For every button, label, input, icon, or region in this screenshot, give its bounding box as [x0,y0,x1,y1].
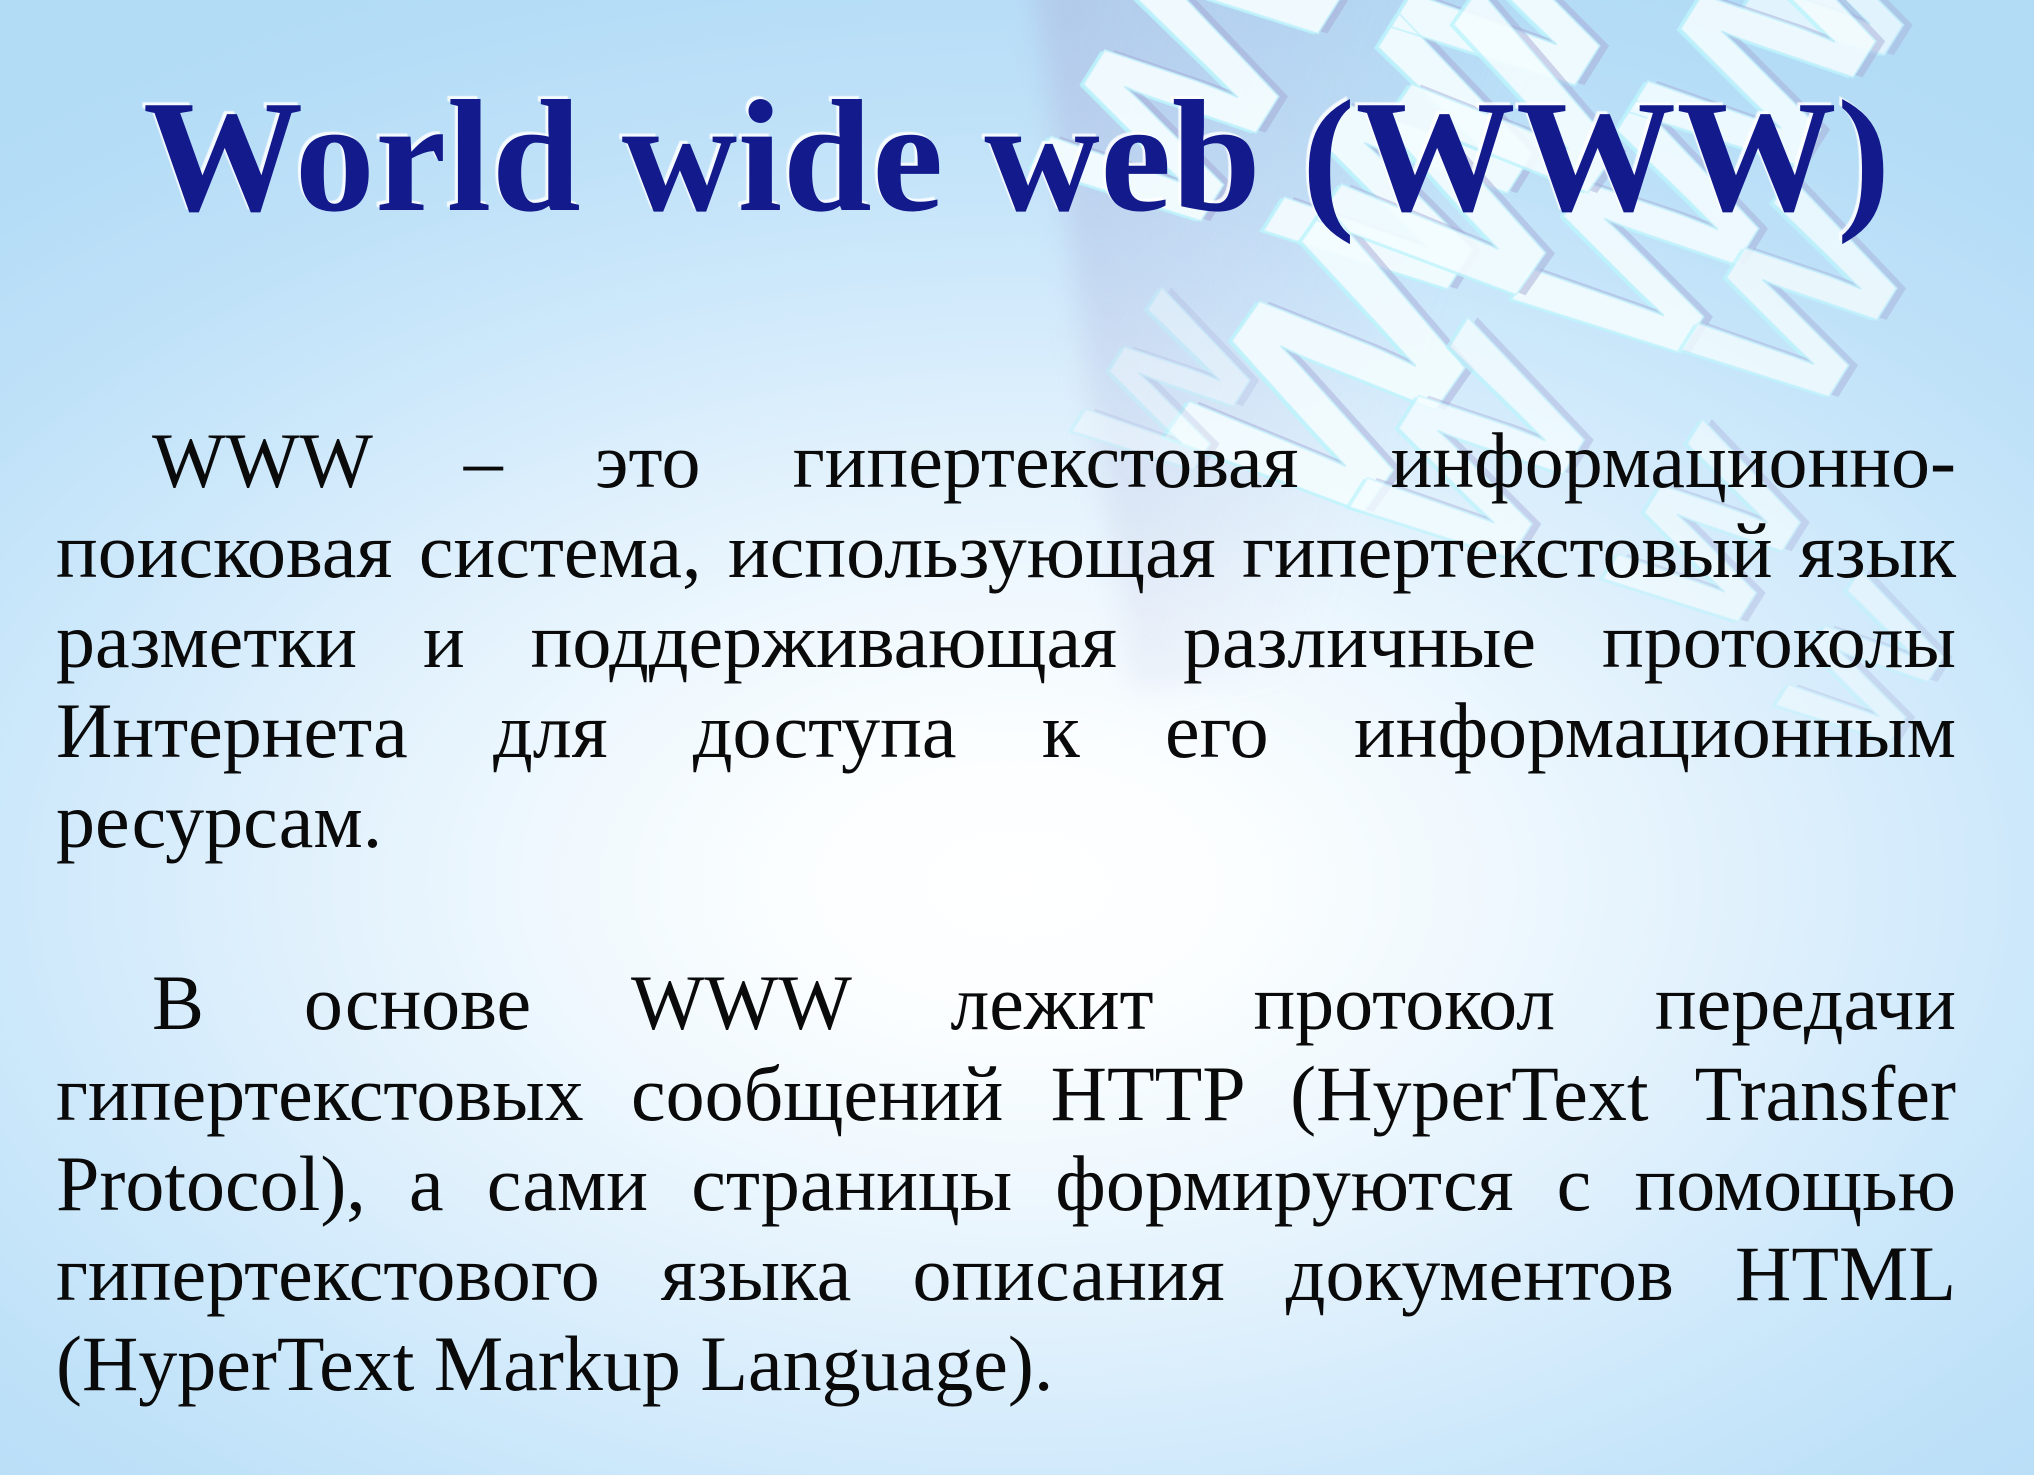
paragraph-protocols: В основе WWW лежит протокол передачи гип… [56,958,1956,1408]
slide-title: World wide web (WWW) [0,72,2034,240]
slide-body: WWW – это гипертекстовая информационно-п… [56,416,1956,1411]
paragraph-definition: WWW – это гипертекстовая информационно-п… [56,416,1956,956]
presentation-slide: W WW WW WW W WW W W W W World wide web (… [0,0,2034,1475]
